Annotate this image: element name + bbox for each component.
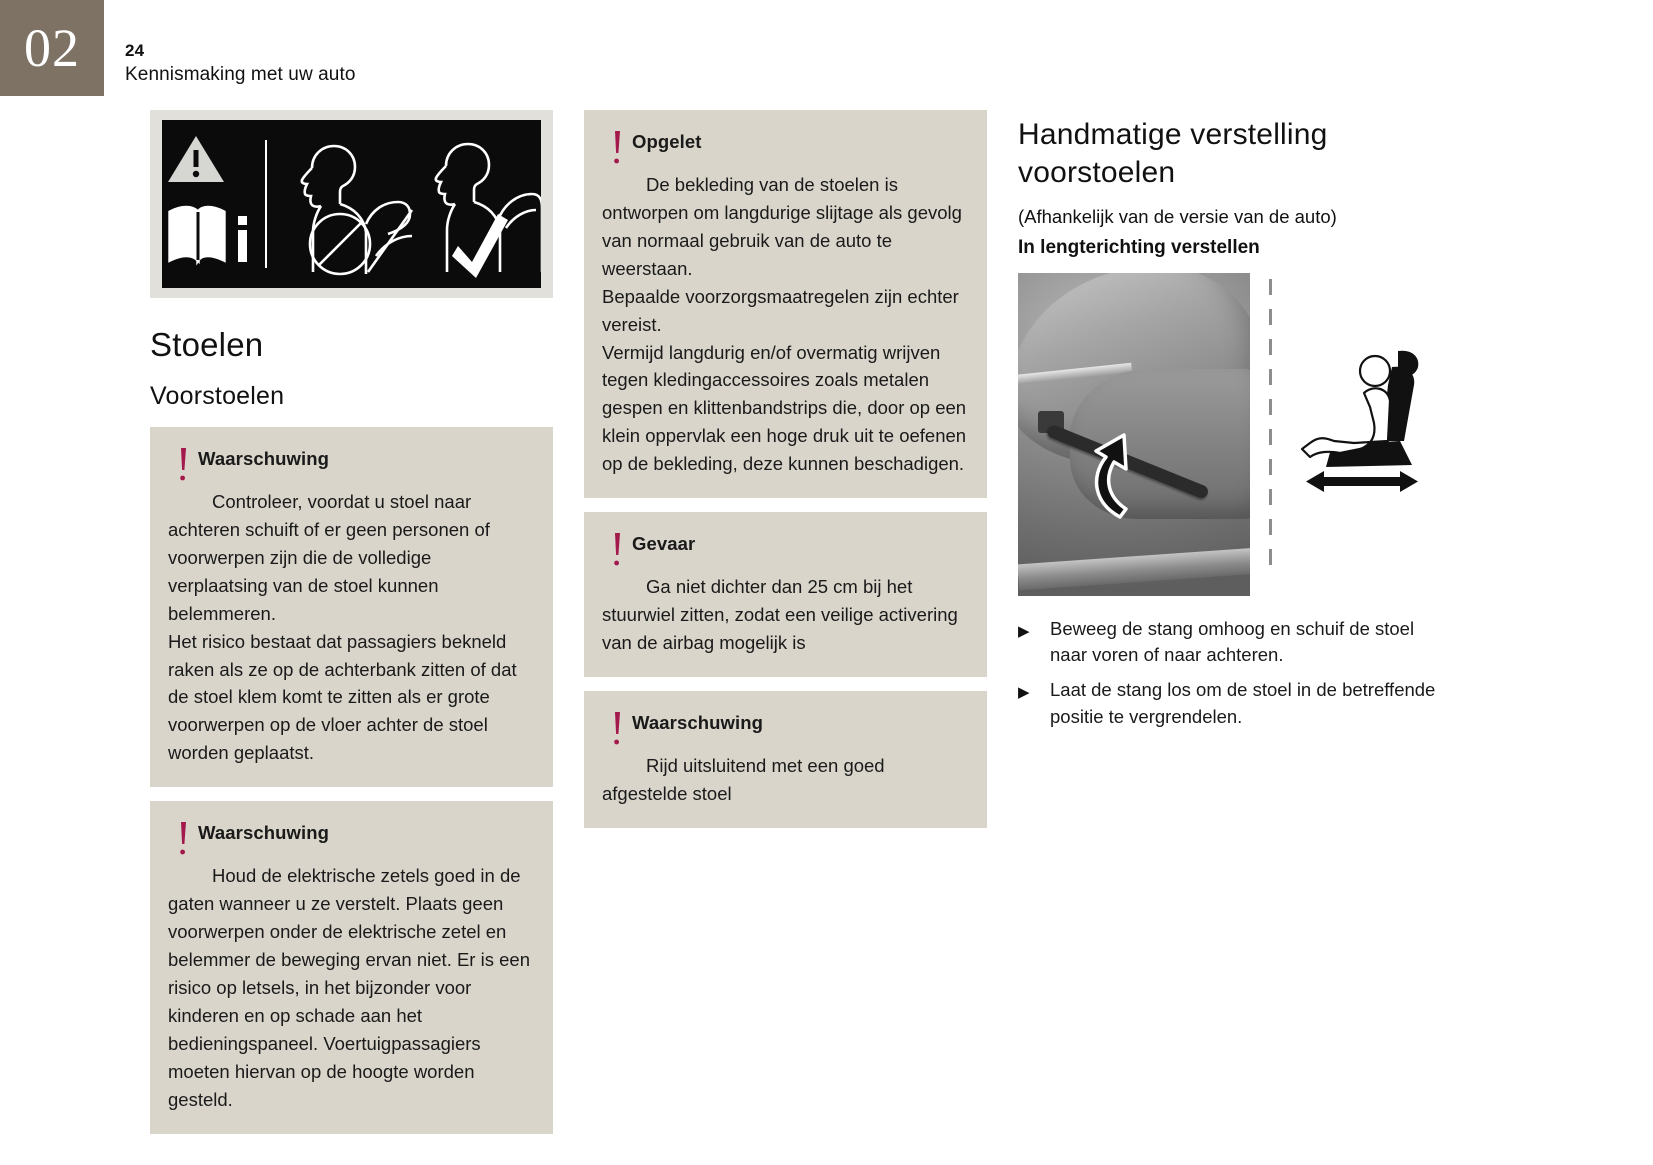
list-item-text: Laat de stang los om de stoel in de betr… bbox=[1050, 677, 1438, 730]
middle-column: Opgelet De bekleding van de stoelen is o… bbox=[584, 110, 987, 842]
page-header: 24 Kennismaking met uw auto bbox=[125, 40, 356, 86]
alert-box-warning-3: Waarschuwing Rijd uitsluitend met een go… bbox=[584, 691, 987, 828]
seat-direction-pictogram bbox=[1290, 273, 1438, 596]
info-letter-i bbox=[238, 216, 247, 262]
headrest-shape bbox=[1398, 351, 1418, 378]
alert-header: Opgelet bbox=[602, 130, 969, 165]
figure-divider bbox=[1250, 273, 1290, 596]
triangle-bullet-icon: ▶ bbox=[1018, 616, 1050, 644]
triangle-bullet-icon: ▶ bbox=[1018, 677, 1050, 705]
safety-pictogram-banner bbox=[150, 110, 553, 298]
left-column: Stoelen Voorstoelen Waarschuwing Control… bbox=[150, 110, 553, 1148]
safety-pictogram-svg bbox=[162, 120, 541, 288]
chapter-number-label: 02 bbox=[24, 21, 80, 75]
alert-box-warning-1: Waarschuwing Controleer, voordat u stoel… bbox=[150, 427, 553, 787]
exclamation-icon bbox=[168, 821, 198, 856]
alert-box-caution: Opgelet De bekleding van de stoelen is o… bbox=[584, 110, 987, 498]
exclamation-icon bbox=[602, 711, 632, 746]
warning-triangle-icon bbox=[168, 136, 224, 182]
page-number: 24 bbox=[125, 40, 356, 61]
alert-body: Houd de elektrische zetels goed in de ga… bbox=[168, 862, 535, 1113]
right-column: Handmatige verstelling voorstoelen (Afha… bbox=[1018, 110, 1438, 739]
alert-body: De bekleding van de stoelen is ontworpen… bbox=[602, 171, 969, 478]
alert-header: Waarschuwing bbox=[602, 711, 969, 746]
alert-header: Waarschuwing bbox=[168, 447, 535, 482]
occupant-outline bbox=[1302, 356, 1390, 457]
alert-body: Ga niet dichter dan 25 cm bij het stuurw… bbox=[602, 573, 969, 657]
seat-rail bbox=[1018, 547, 1250, 590]
alert-label: Waarschuwing bbox=[198, 447, 329, 470]
chapter-number-tab: 02 bbox=[0, 0, 104, 96]
right-section-title: Handmatige verstelling voorstoelen bbox=[1018, 116, 1438, 193]
alert-box-warning-2: Waarschuwing Houd de elektrische zetels … bbox=[150, 801, 553, 1133]
seated-occupant-fore-aft-arrow-pictogram bbox=[1296, 349, 1432, 499]
alert-label: Gevaar bbox=[632, 532, 695, 555]
section-title: Stoelen bbox=[150, 326, 553, 364]
right-section-boldline: In lengterichting verstellen bbox=[1018, 237, 1438, 259]
page-title: Kennismaking met uw auto bbox=[125, 64, 356, 86]
alert-header: Gevaar bbox=[602, 532, 969, 567]
exclamation-icon bbox=[168, 447, 198, 482]
dashed-divider-line bbox=[1269, 279, 1272, 579]
safety-pictogram-canvas bbox=[162, 120, 541, 288]
alert-label: Waarschuwing bbox=[198, 821, 329, 844]
alert-box-danger: Gevaar Ga niet dichter dan 25 cm bij het… bbox=[584, 512, 987, 677]
list-item: ▶ Beweeg de stang omhoog en schuif de st… bbox=[1018, 616, 1438, 669]
fore-aft-arrow-icon bbox=[1306, 471, 1418, 492]
manual-book-info-icon bbox=[170, 208, 224, 261]
seat-adjustment-figure bbox=[1018, 273, 1438, 596]
upward-curved-arrow-icon bbox=[1080, 421, 1150, 521]
alert-label: Opgelet bbox=[632, 130, 702, 153]
alert-body: Rijd uitsluitend met een goed afgestelde… bbox=[602, 752, 969, 808]
seat-adjustment-bar-photo bbox=[1018, 273, 1250, 596]
alert-header: Waarschuwing bbox=[168, 821, 535, 856]
exclamation-icon bbox=[602, 532, 632, 567]
alert-label: Waarschuwing bbox=[632, 711, 763, 734]
list-item-text: Beweeg de stang omhoog en schuif de stoe… bbox=[1050, 616, 1438, 669]
seatbelt-incorrect-icon bbox=[302, 146, 412, 274]
instruction-list: ▶ Beweeg de stang omhoog en schuif de st… bbox=[1018, 616, 1438, 730]
alert-body: Controleer, voordat u stoel naar achtere… bbox=[168, 488, 535, 767]
list-item: ▶ Laat de stang los om de stoel in de be… bbox=[1018, 677, 1438, 730]
right-section-subtitle: (Afhankelijk van de versie van de auto) bbox=[1018, 206, 1438, 228]
exclamation-icon bbox=[602, 130, 632, 165]
sub-section-title: Voorstoelen bbox=[150, 382, 553, 411]
